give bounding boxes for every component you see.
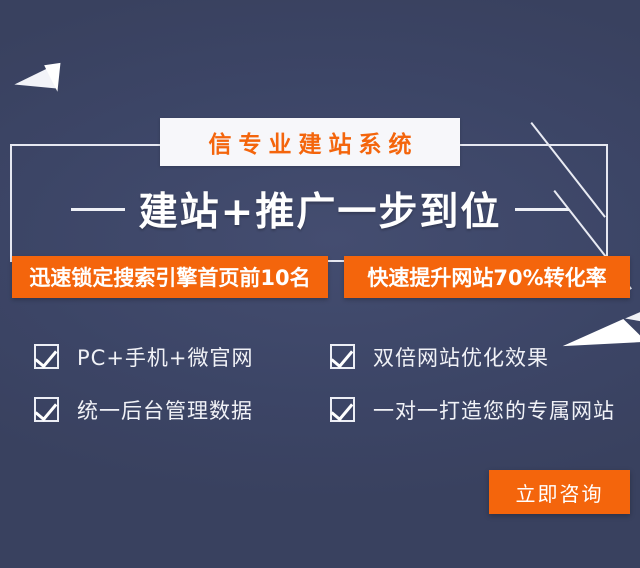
feature-item: 统一后台管理数据: [34, 395, 330, 425]
feature-item: PC+手机+微官网: [34, 342, 330, 372]
highlight-strip-seo: 迅速锁定搜索引擎首页前10名: [12, 256, 328, 298]
promo-banner: 信专业建站系统 建站+推广一步到位 迅速锁定搜索引擎首页前10名 快速提升网站7…: [0, 0, 640, 568]
checkbox-checked-icon: [34, 397, 59, 422]
feature-list: PC+手机+微官网 双倍网站优化效果 统一后台管理数据 一对一打造您的专属网站: [34, 330, 634, 436]
feature-item: 双倍网站优化效果: [330, 342, 630, 372]
feature-item-label: 双倍网站优化效果: [373, 342, 549, 372]
feature-item: 一对一打造您的专属网站: [330, 395, 630, 425]
checkbox-checked-icon: [330, 397, 355, 422]
feature-item-label: 一对一打造您的专属网站: [373, 395, 615, 425]
feature-item-label: PC+手机+微官网: [77, 342, 254, 372]
badge-label: 信专业建站系统: [202, 125, 419, 159]
rule-right: [515, 208, 569, 211]
highlight-strip-conversion-label: 快速提升网站70%转化率: [367, 262, 606, 292]
headline-row: 建站+推广一步到位: [0, 178, 640, 240]
consult-now-button[interactable]: 立即咨询: [489, 470, 630, 514]
rule-left: [71, 208, 125, 211]
feature-item-label: 统一后台管理数据: [77, 395, 253, 425]
badge: 信专业建站系统: [160, 118, 460, 166]
checkbox-checked-icon: [34, 344, 59, 369]
checkbox-checked-icon: [330, 344, 355, 369]
highlight-strip-seo-label: 迅速锁定搜索引擎首页前10名: [29, 262, 310, 292]
page-title: 建站+推广一步到位: [139, 181, 502, 237]
paper-plane-wing-icon: [42, 61, 61, 92]
highlight-strip-conversion: 快速提升网站70%转化率: [344, 256, 630, 298]
